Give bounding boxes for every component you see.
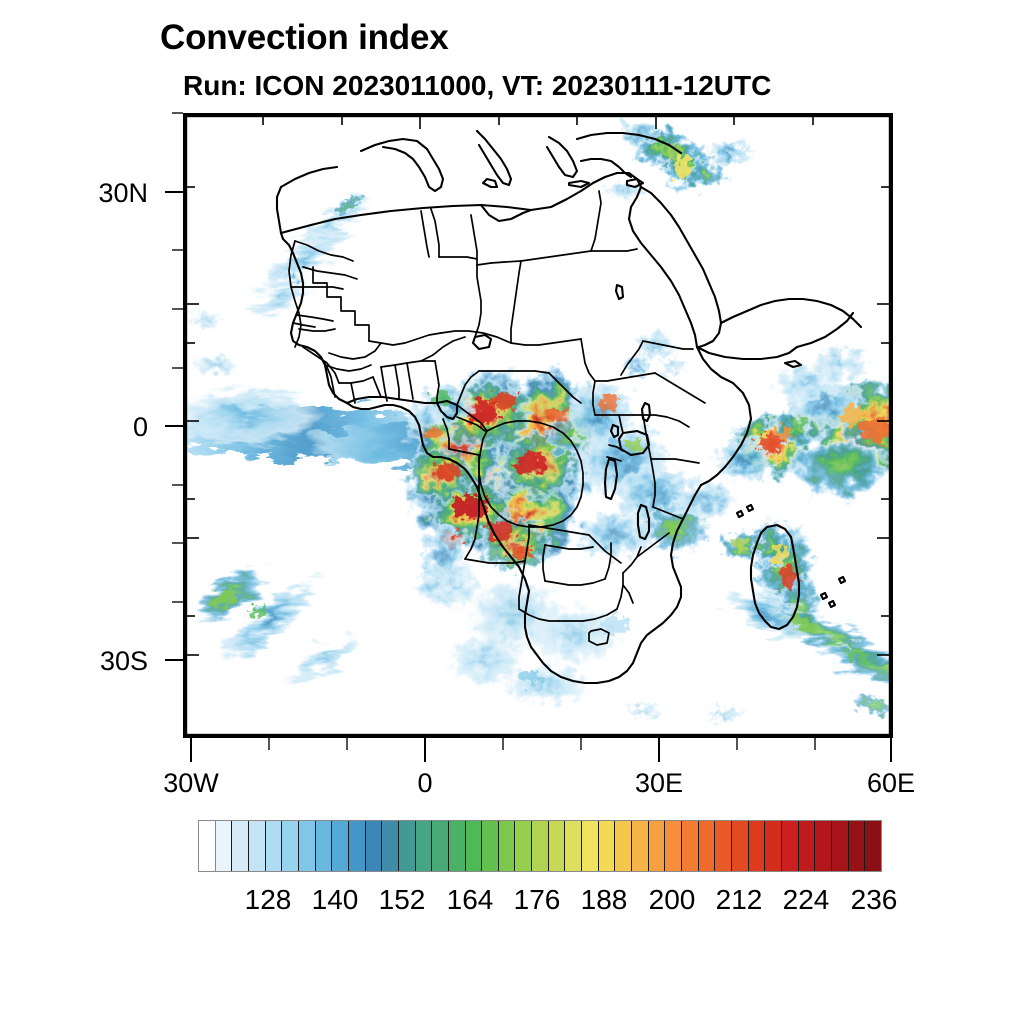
colorbar-segment <box>266 821 283 871</box>
colorbar-segment <box>849 821 866 871</box>
x-tick-label-30E: 30E <box>589 768 729 799</box>
page-title: Convection index <box>160 18 449 58</box>
colorbar-segment <box>232 821 249 871</box>
colorbar-segment <box>649 821 666 871</box>
y-tick-label-0: 0 <box>28 412 148 443</box>
colorbar-segment <box>316 821 333 871</box>
colorbar-segment <box>332 821 349 871</box>
colorbar-segment <box>466 821 483 871</box>
x-tick-label-30W: 30W <box>121 768 261 799</box>
colorbar-tick-236: 236 <box>834 884 914 916</box>
colorbar-segment <box>665 821 682 871</box>
colorbar-segment <box>382 821 399 871</box>
colorbar[interactable] <box>198 820 882 872</box>
colorbar-segment <box>282 821 299 871</box>
colorbar-segment <box>299 821 316 871</box>
colorbar-segment <box>199 821 216 871</box>
colorbar-segment <box>216 821 233 871</box>
colorbar-segment <box>582 821 599 871</box>
colorbar-segment <box>632 821 649 871</box>
colorbar-segment <box>449 821 466 871</box>
colorbar-segment <box>682 821 699 871</box>
colorbar-segment <box>565 821 582 871</box>
colorbar-segment <box>366 821 383 871</box>
colorbar-segment <box>482 821 499 871</box>
x-tick-label-60E: 60E <box>821 768 961 799</box>
colorbar-segment <box>782 821 799 871</box>
colorbar-segment <box>715 821 732 871</box>
y-tick-label-30S: 30S <box>28 646 148 677</box>
colorbar-segment <box>432 821 449 871</box>
colorbar-segment <box>416 821 433 871</box>
map-plot-area[interactable] <box>183 113 893 738</box>
colorbar-segment <box>732 821 749 871</box>
map-svg <box>185 115 891 736</box>
colorbar-segment <box>249 821 266 871</box>
colorbar-segment <box>615 821 632 871</box>
colorbar-segment <box>499 821 516 871</box>
colorbar-segment <box>349 821 366 871</box>
colorbar-segment <box>815 821 832 871</box>
colorbar-segment <box>699 821 716 871</box>
colorbar-segment <box>765 821 782 871</box>
colorbar-segment <box>549 821 566 871</box>
colorbar-segment <box>532 821 549 871</box>
colorbar-segment <box>515 821 532 871</box>
colorbar-segment <box>799 821 816 871</box>
colorbar-segment <box>599 821 616 871</box>
colorbar-segment <box>832 821 849 871</box>
x-tick-label-0: 0 <box>355 768 495 799</box>
colorbar-segment <box>399 821 416 871</box>
y-tick-label-30N: 30N <box>28 178 148 209</box>
colorbar-segment <box>865 821 881 871</box>
colorbar-segment <box>749 821 766 871</box>
page-subtitle: Run: ICON 2023011000, VT: 20230111-12UTC <box>183 70 771 102</box>
